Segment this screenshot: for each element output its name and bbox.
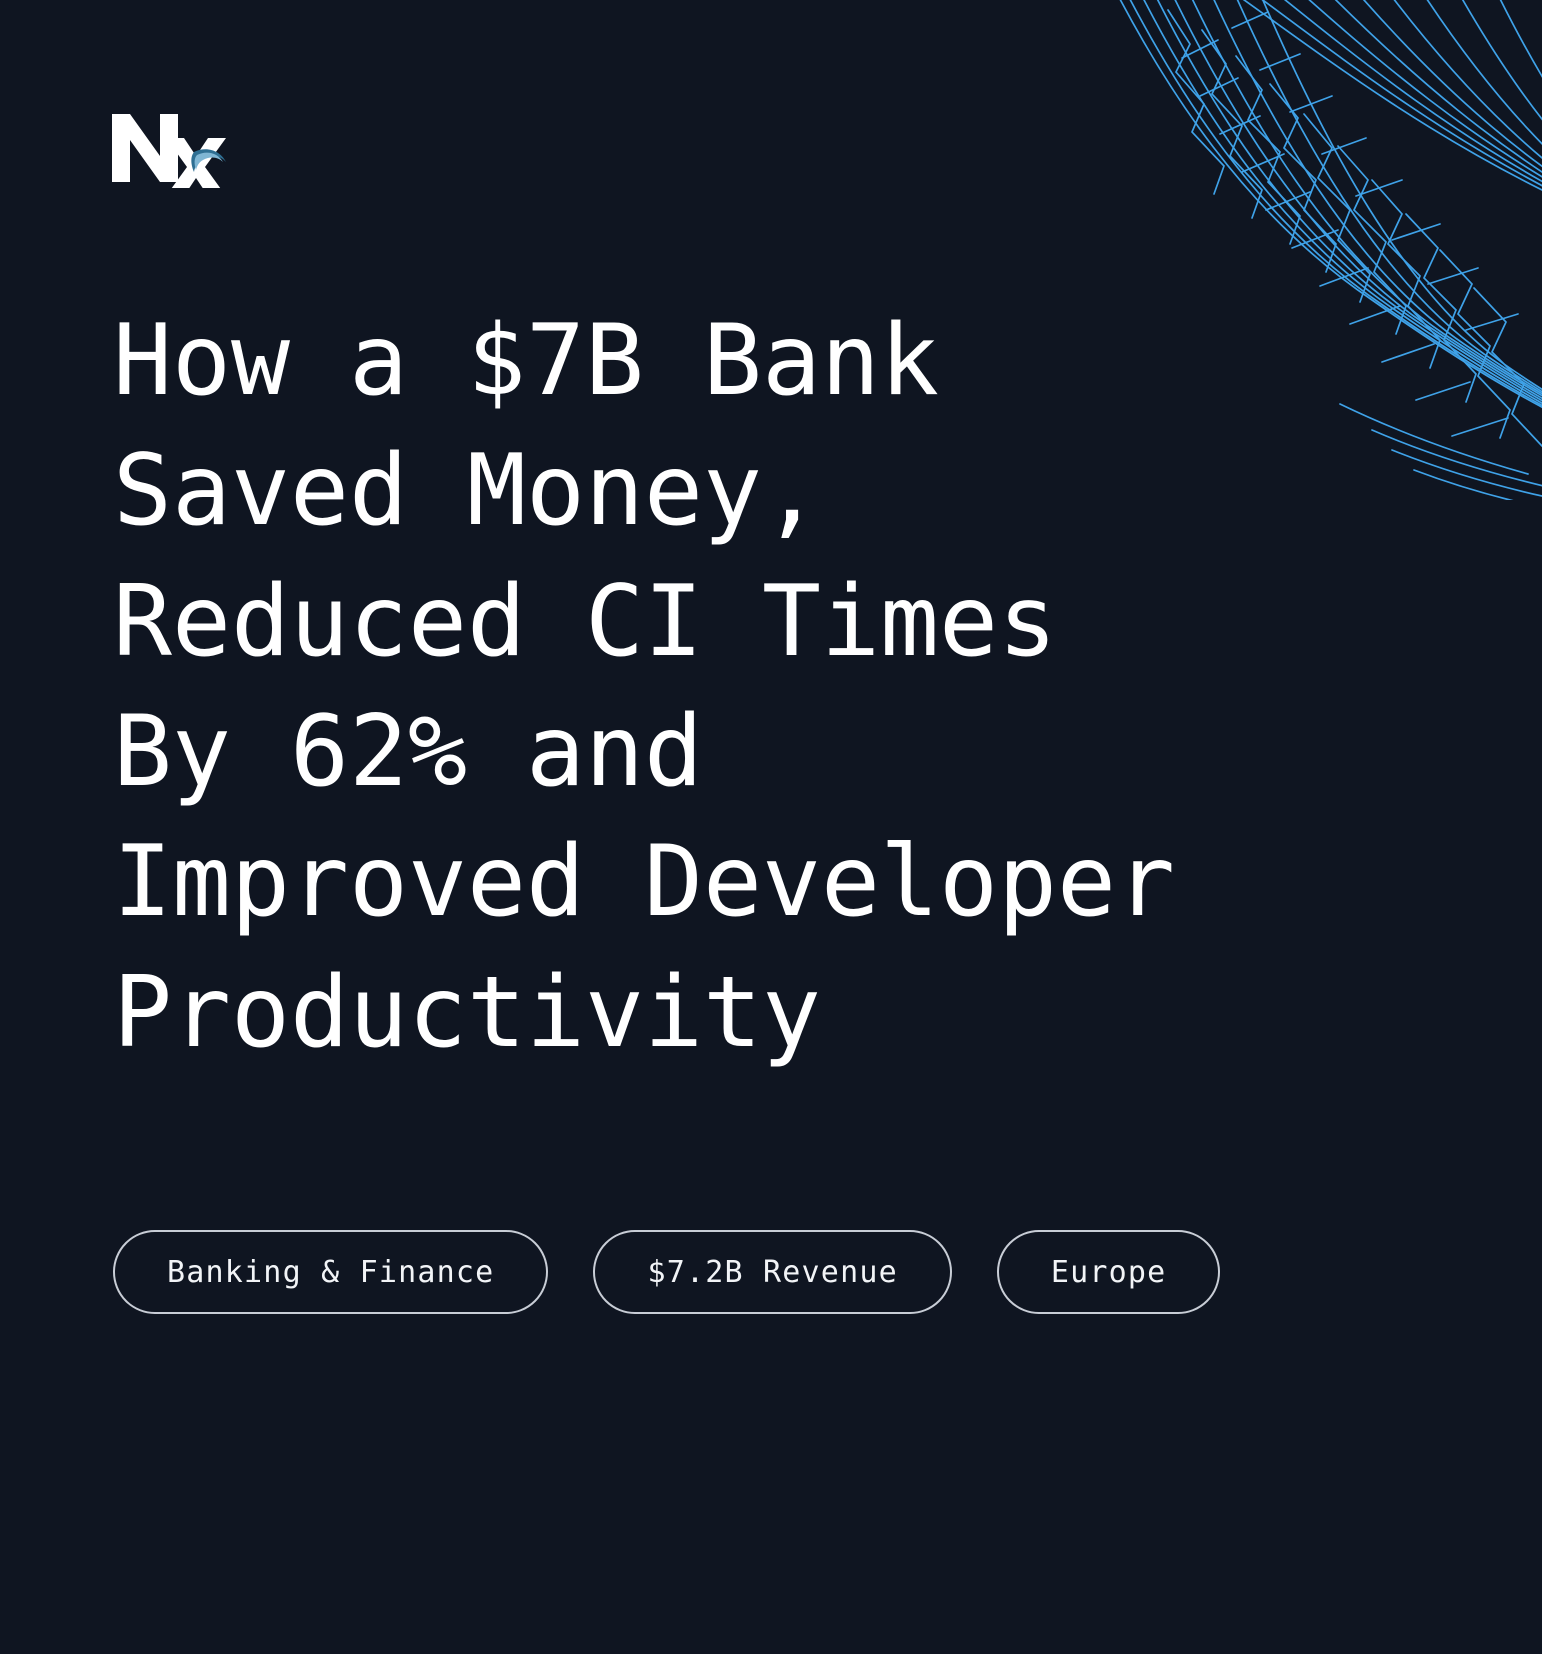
- logo-letter-n: [112, 114, 178, 182]
- page-title: How a $7B Bank Saved Money, Reduced CI T…: [113, 296, 1413, 1078]
- badge-industry[interactable]: Banking & Finance: [113, 1230, 548, 1314]
- badge-industry-label: Banking & Finance: [167, 1255, 494, 1290]
- card-content: How a $7B Bank Saved Money, Reduced CI T…: [0, 0, 1542, 1654]
- badge-row: Banking & Finance $7.2B Revenue Europe: [113, 1230, 1220, 1314]
- badge-revenue-label: $7.2B Revenue: [647, 1255, 897, 1290]
- badge-region-label: Europe: [1051, 1255, 1167, 1290]
- badge-region[interactable]: Europe: [997, 1230, 1221, 1314]
- nx-logo[interactable]: [108, 108, 236, 188]
- badge-revenue[interactable]: $7.2B Revenue: [593, 1230, 951, 1314]
